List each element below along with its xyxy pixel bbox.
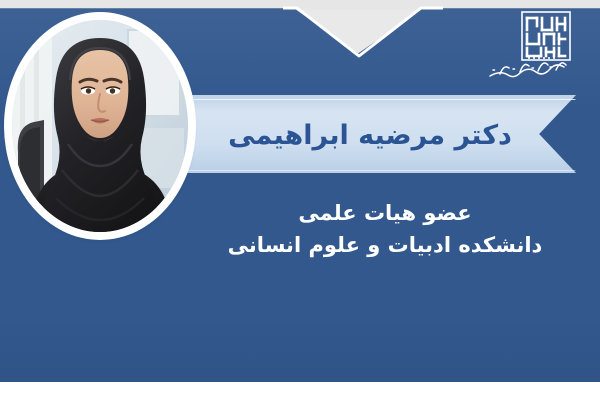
avatar	[8, 16, 192, 236]
bottom-white-strip	[0, 382, 600, 400]
profile-card-canvas: دکتر مرضیه ابراهیمی	[0, 0, 600, 400]
person-name: دکتر مرضیه ابراهیمی	[200, 104, 540, 166]
title-line-2: دانشکده ادبیات و علوم انسانی	[190, 230, 580, 262]
portrait-photo	[12, 20, 188, 232]
shahid-beheshti-university-logo	[480, 8, 586, 84]
person-title-block: عضو هیات علمی دانشکده ادبیات و علوم انسا…	[190, 198, 580, 261]
title-line-1: عضو هیات علمی	[190, 198, 580, 230]
